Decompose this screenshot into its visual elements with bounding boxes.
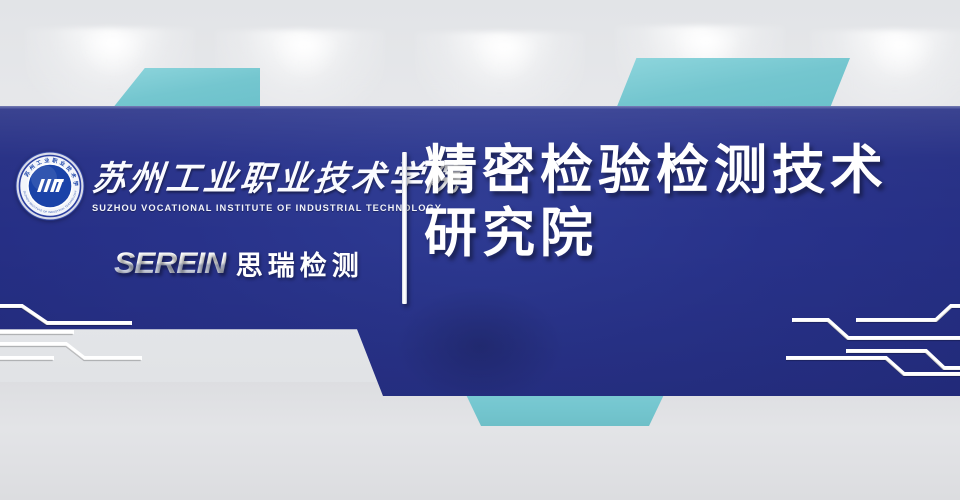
headline-line-1: 精密检验检测技术 — [424, 140, 944, 203]
institution-name-cn: 苏州工业职业技术学院 — [90, 161, 464, 199]
ceiling-light-core-1 — [78, 36, 148, 82]
institution-identity-row: 苏州工业职业技术学院 SUZHOU INSTITUTE OF INDUSTRIA… — [14, 150, 386, 222]
partner-identity-row: SEREIN 思瑞检测 — [114, 244, 386, 283]
headline-block: 精密检验检测技术 研究院 — [424, 140, 944, 265]
serein-wordmark: SEREIN — [114, 247, 226, 281]
suzhou-institute-emblem-icon: 苏州工业职业技术学院 SUZHOU INSTITUTE OF INDUSTRIA… — [14, 150, 86, 222]
ceiling-light-core-3 — [470, 40, 540, 86]
vertical-divider-bar — [402, 152, 407, 304]
ceiling-light-core-2 — [270, 38, 340, 84]
headline-line-2: 研究院 — [424, 203, 944, 266]
signage-scene: 苏州工业职业技术学院 SUZHOU INSTITUTE OF INDUSTRIA… — [0, 0, 960, 500]
institution-block: 苏州工业职业技术学院 SUZHOU INSTITUTE OF INDUSTRIA… — [14, 150, 386, 283]
partner-name-cn: 思瑞检测 — [236, 244, 364, 283]
board-content: 苏州工业职业技术学院 SUZHOU INSTITUTE OF INDUSTRIA… — [0, 106, 960, 396]
ceiling-light-core-5 — [866, 38, 936, 84]
